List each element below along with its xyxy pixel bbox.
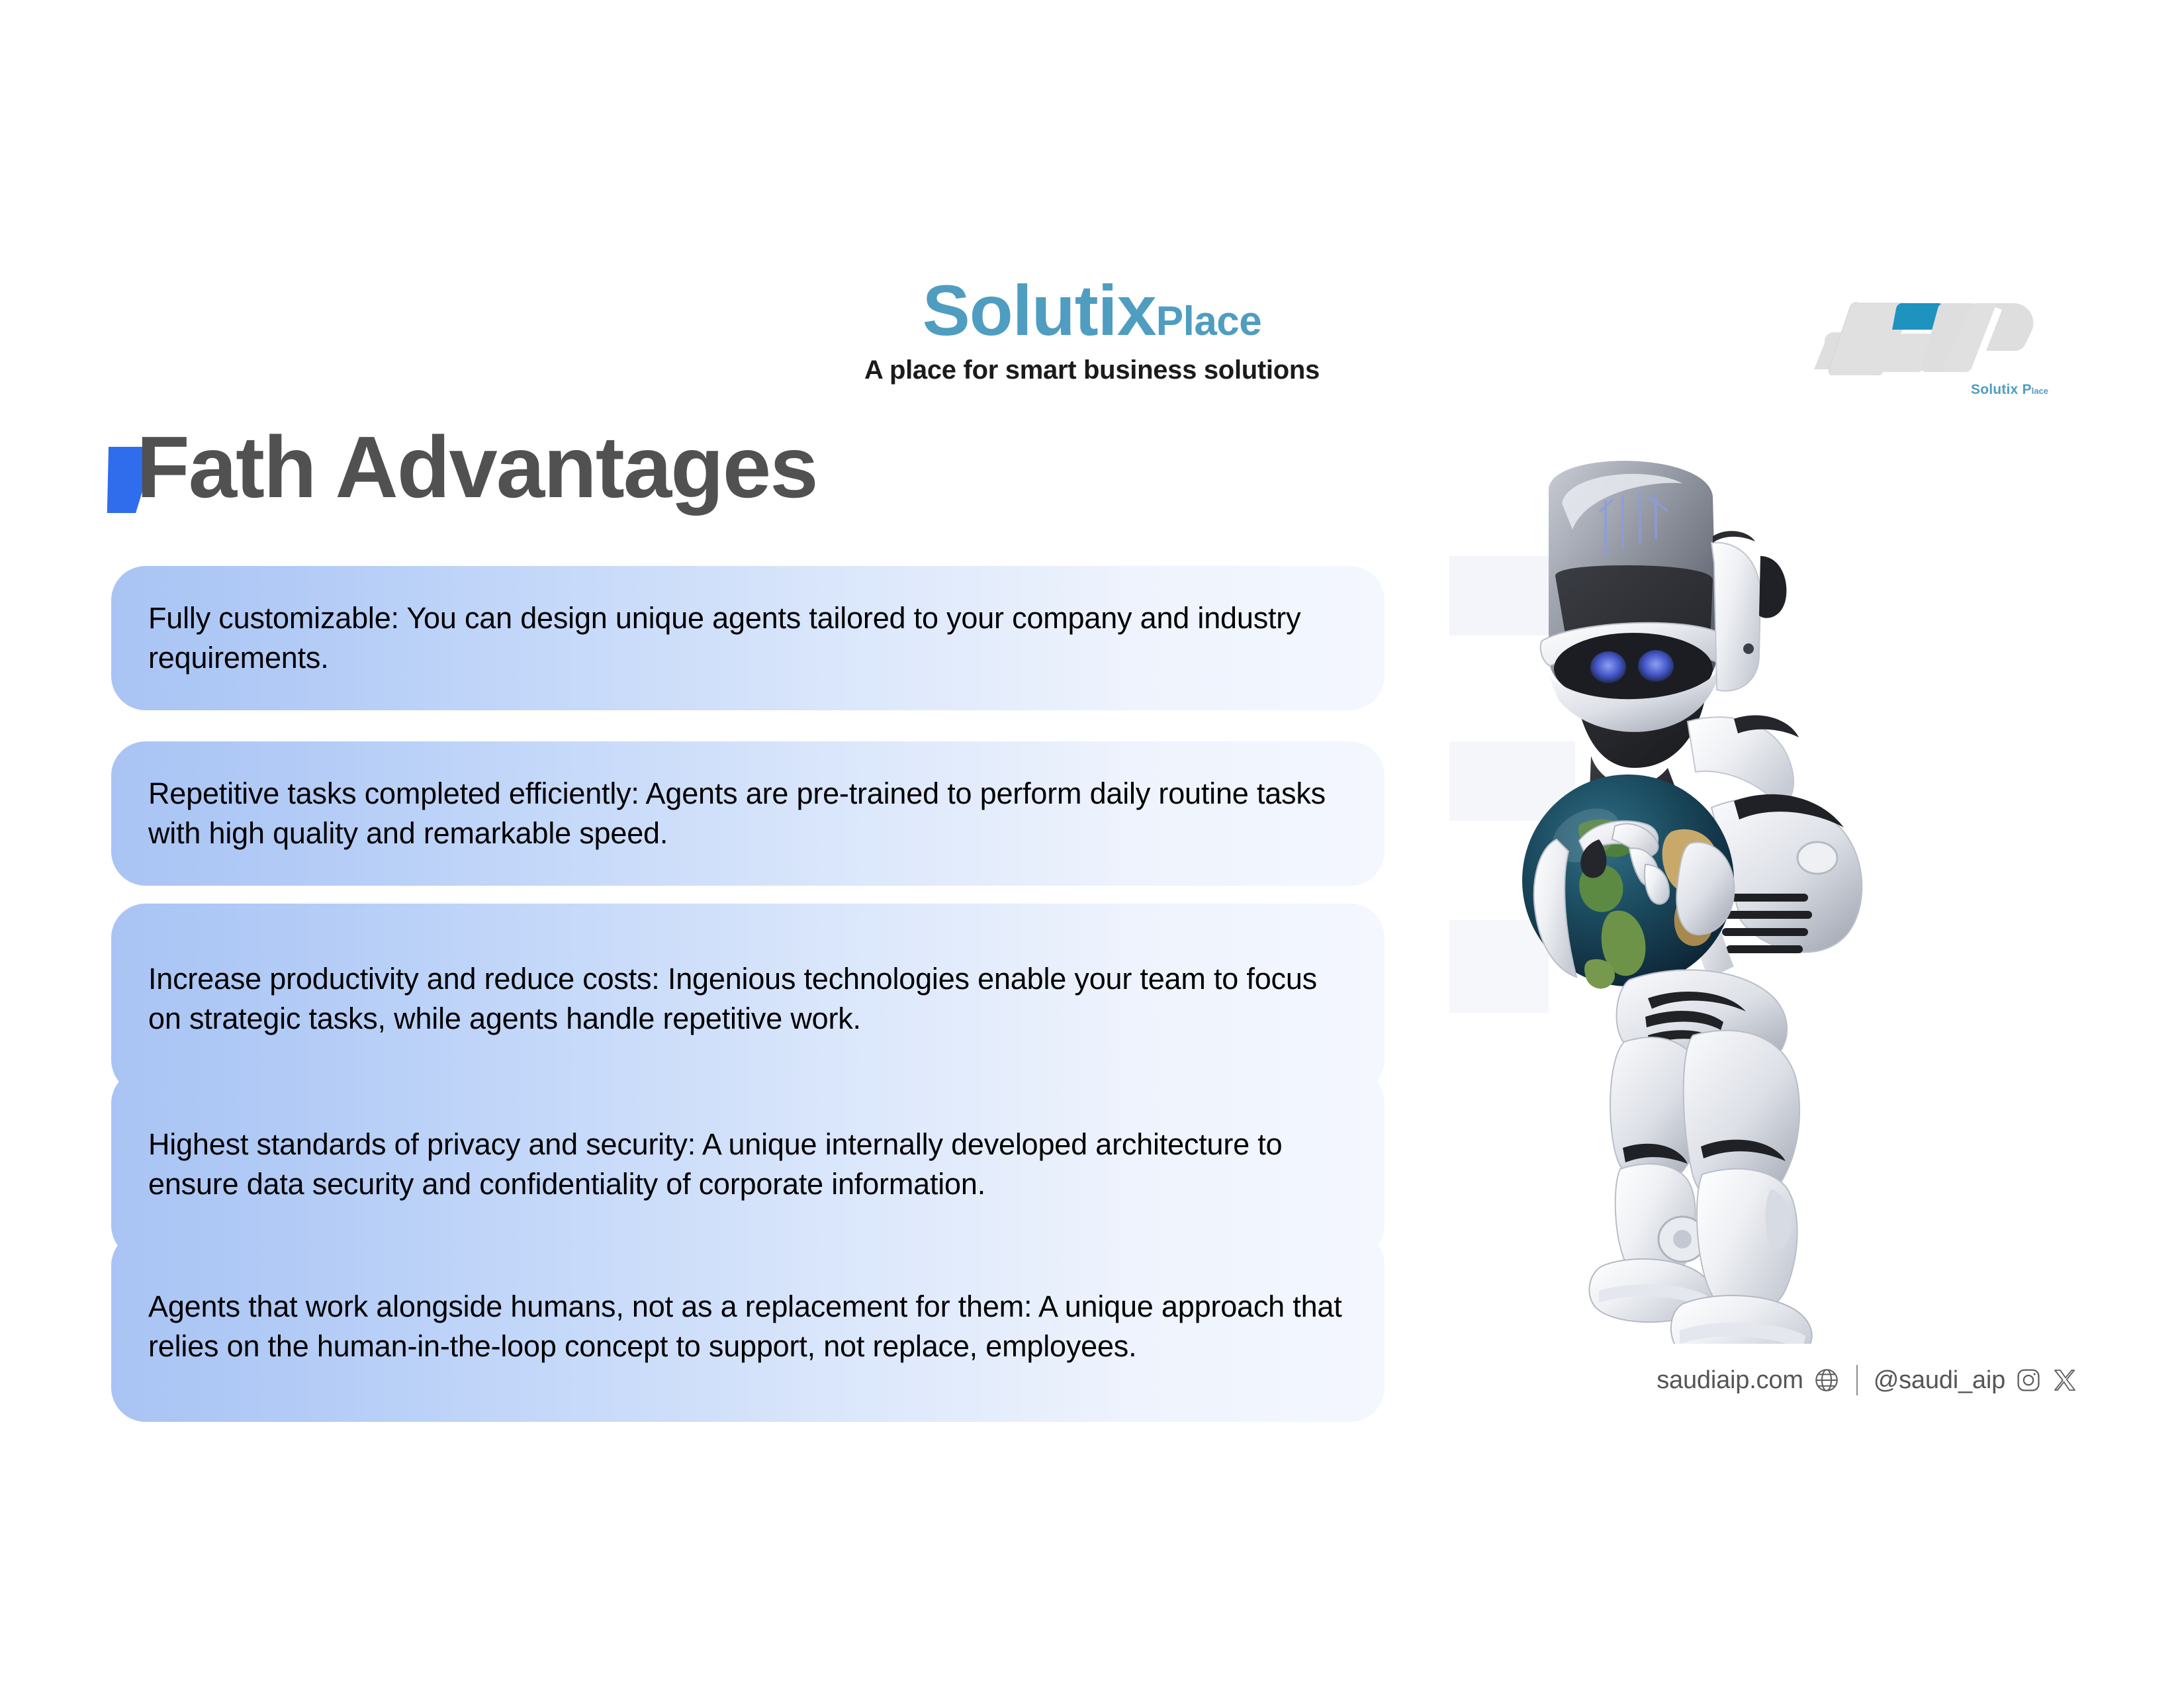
footer-contact: saudiaip.com @saudi_aip: [1657, 1365, 2078, 1395]
footer-website[interactable]: saudiaip.com: [1657, 1366, 1803, 1395]
advantage-item: Repetitive tasks completed efficiently: …: [111, 741, 1385, 886]
bg-panel: [1449, 920, 1549, 1013]
advantage-text: Increase productivity and reduce costs: …: [111, 959, 1385, 1039]
aip-logo-caption-main: Solutix P: [1971, 382, 2032, 397]
brand-name-sub: Place: [1156, 299, 1262, 344]
advantage-text: Fully customizable: You can design uniqu…: [111, 598, 1385, 678]
robot-holding-globe-illustration: [1449, 457, 1926, 1344]
page-title-text: Fath Advantages: [105, 424, 817, 511]
advantage-item: Agents that work alongside humans, not a…: [111, 1231, 1385, 1422]
brand-wordmark: SolutixPlace: [923, 275, 1262, 346]
page-title: Fath Advantages: [105, 424, 817, 539]
footer-social-handle[interactable]: @saudi_aip: [1874, 1366, 2005, 1395]
slide-canvas: SolutixPlace A place for smart business …: [0, 0, 2184, 1688]
advantage-item: Fully customizable: You can design uniqu…: [111, 566, 1385, 710]
advantage-item: Increase productivity and reduce costs: …: [111, 904, 1385, 1094]
advantage-text: Agents that work alongside humans, not a…: [111, 1287, 1385, 1366]
aip-logo: [1810, 286, 2062, 375]
x-icon[interactable]: [2052, 1367, 2078, 1393]
footer-divider: [1856, 1365, 1858, 1395]
advantage-text: Highest standards of privacy and securit…: [111, 1125, 1385, 1204]
instagram-icon[interactable]: [2015, 1366, 2042, 1394]
brand-name-main: Solutix: [923, 270, 1156, 350]
robot-eye-left: [1590, 651, 1626, 683]
globe-icon: [1813, 1366, 1841, 1394]
robot-eye-right: [1638, 650, 1674, 682]
aip-logo-caption: Solutix Place: [1971, 382, 2048, 398]
advantage-text: Repetitive tasks completed efficiently: …: [111, 774, 1385, 853]
aip-logo-caption-small: lace: [2032, 386, 2048, 396]
